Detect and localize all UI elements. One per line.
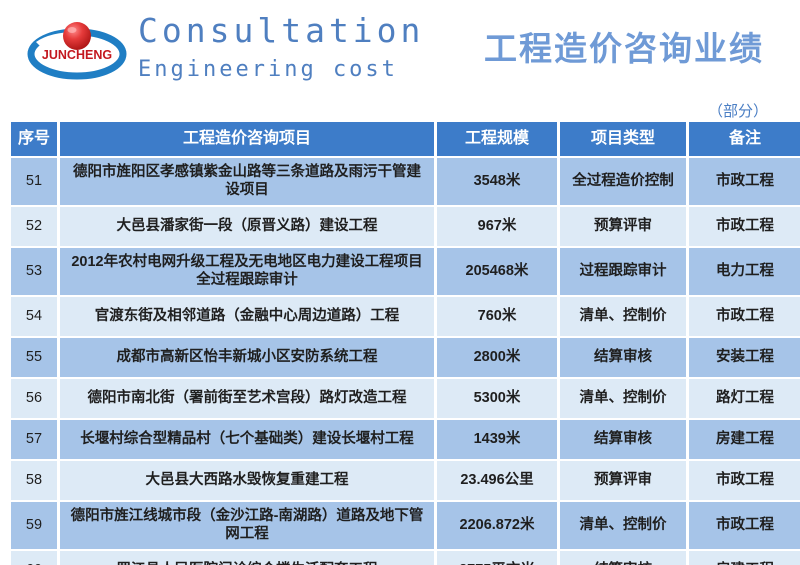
cell-project: 罗江县人民医院门诊综合楼生活配套工程: [60, 551, 434, 565]
page-title: 工程造价咨询业绩: [484, 22, 764, 70]
table-row: 51德阳市旌阳区孝感镇紫金山路等三条道路及雨污干管建设项目3548米全过程造价控…: [11, 158, 800, 205]
cell-note: 市政工程: [689, 502, 800, 549]
partial-note: （部分）: [708, 100, 768, 121]
cell-note: 市政工程: [689, 158, 800, 205]
cell-note: 市政工程: [689, 461, 800, 500]
cell-no: 60: [11, 551, 57, 565]
table-row: 57长堰村综合型精品村（七个基础类）建设长堰村工程1439米结算审核房建工程: [11, 420, 800, 459]
cell-note: 市政工程: [689, 207, 800, 246]
cell-note: 房建工程: [689, 551, 800, 565]
cell-type: 清单、控制价: [560, 502, 686, 549]
cell-type: 过程跟踪审计: [560, 248, 686, 295]
performance-table-container: 序号 工程造价咨询项目 工程规模 项目类型 备注 51德阳市旌阳区孝感镇紫金山路…: [8, 120, 792, 565]
cell-project: 大邑县大西路水毁恢复重建工程: [60, 461, 434, 500]
cell-note: 电力工程: [689, 248, 800, 295]
cell-scale: 2800米: [437, 338, 557, 377]
cell-scale: 1439米: [437, 420, 557, 459]
cell-scale: 2775平方米: [437, 551, 557, 565]
column-header-project: 工程造价咨询项目: [60, 122, 434, 156]
table-row: 532012年农村电网升级工程及无电地区电力建设工程项目全过程跟踪审计20546…: [11, 248, 800, 295]
cell-type: 预算评审: [560, 207, 686, 246]
cell-scale: 23.496公里: [437, 461, 557, 500]
cell-no: 58: [11, 461, 57, 500]
performance-table: 序号 工程造价咨询项目 工程规模 项目类型 备注 51德阳市旌阳区孝感镇紫金山路…: [8, 120, 800, 565]
ellipse-sphere-logo-icon: JUNCHENG: [24, 12, 130, 82]
column-header-note: 备注: [689, 122, 800, 156]
cell-no: 51: [11, 158, 57, 205]
logo-wordmark: JUNCHENG: [42, 48, 112, 62]
company-logo: JUNCHENG: [24, 12, 130, 82]
cell-note: 市政工程: [689, 297, 800, 336]
table-header-row: 序号 工程造价咨询项目 工程规模 项目类型 备注: [11, 122, 800, 156]
cell-project: 德阳市旌阳区孝感镇紫金山路等三条道路及雨污干管建设项目: [60, 158, 434, 205]
table-row: 52大邑县潘家街一段（原晋义路）建设工程967米预算评审市政工程: [11, 207, 800, 246]
cell-type: 全过程造价控制: [560, 158, 686, 205]
cell-project: 德阳市南北街（署前街至艺术宫段）路灯改造工程: [60, 379, 434, 418]
cell-type: 预算评审: [560, 461, 686, 500]
cell-project: 德阳市旌江线城市段（金沙江路-南湖路）道路及地下管网工程: [60, 502, 434, 549]
cell-project: 成都市高新区怡丰新城小区安防系统工程: [60, 338, 434, 377]
cell-project: 长堰村综合型精品村（七个基础类）建设长堰村工程: [60, 420, 434, 459]
cell-note: 安装工程: [689, 338, 800, 377]
column-header-no: 序号: [11, 122, 57, 156]
cell-no: 57: [11, 420, 57, 459]
cell-no: 56: [11, 379, 57, 418]
brand-tagline: Consultation Engineering cost: [138, 14, 424, 81]
cell-no: 53: [11, 248, 57, 295]
brand-header: JUNCHENG Consultation Engineering cost 工…: [0, 0, 800, 100]
cell-type: 清单、控制价: [560, 297, 686, 336]
cell-scale: 3548米: [437, 158, 557, 205]
page-root: JUNCHENG Consultation Engineering cost 工…: [0, 0, 800, 565]
cell-scale: 5300米: [437, 379, 557, 418]
cell-no: 55: [11, 338, 57, 377]
cell-type: 结算审核: [560, 551, 686, 565]
brand-line-engineering-cost: Engineering cost: [138, 59, 424, 81]
brand-line-consultation: Consultation: [138, 14, 424, 47]
cell-note: 房建工程: [689, 420, 800, 459]
cell-scale: 205468米: [437, 248, 557, 295]
table-row: 60罗江县人民医院门诊综合楼生活配套工程2775平方米结算审核房建工程: [11, 551, 800, 565]
table-header: 序号 工程造价咨询项目 工程规模 项目类型 备注: [11, 122, 800, 156]
cell-type: 清单、控制价: [560, 379, 686, 418]
cell-no: 52: [11, 207, 57, 246]
cell-no: 54: [11, 297, 57, 336]
cell-type: 结算审核: [560, 420, 686, 459]
table-row: 55成都市高新区怡丰新城小区安防系统工程2800米结算审核安装工程: [11, 338, 800, 377]
table-body: 51德阳市旌阳区孝感镇紫金山路等三条道路及雨污干管建设项目3548米全过程造价控…: [11, 158, 800, 565]
column-header-type: 项目类型: [560, 122, 686, 156]
cell-project: 大邑县潘家街一段（原晋义路）建设工程: [60, 207, 434, 246]
cell-project: 2012年农村电网升级工程及无电地区电力建设工程项目全过程跟踪审计: [60, 248, 434, 295]
cell-scale: 967米: [437, 207, 557, 246]
table-row: 58大邑县大西路水毁恢复重建工程23.496公里预算评审市政工程: [11, 461, 800, 500]
table-row: 54官渡东街及相邻道路（金融中心周边道路）工程760米清单、控制价市政工程: [11, 297, 800, 336]
cell-note: 路灯工程: [689, 379, 800, 418]
cell-scale: 760米: [437, 297, 557, 336]
cell-type: 结算审核: [560, 338, 686, 377]
column-header-scale: 工程规模: [437, 122, 557, 156]
cell-no: 59: [11, 502, 57, 549]
cell-project: 官渡东街及相邻道路（金融中心周边道路）工程: [60, 297, 434, 336]
cell-scale: 2206.872米: [437, 502, 557, 549]
table-row: 56德阳市南北街（署前街至艺术宫段）路灯改造工程5300米清单、控制价路灯工程: [11, 379, 800, 418]
table-row: 59德阳市旌江线城市段（金沙江路-南湖路）道路及地下管网工程2206.872米清…: [11, 502, 800, 549]
